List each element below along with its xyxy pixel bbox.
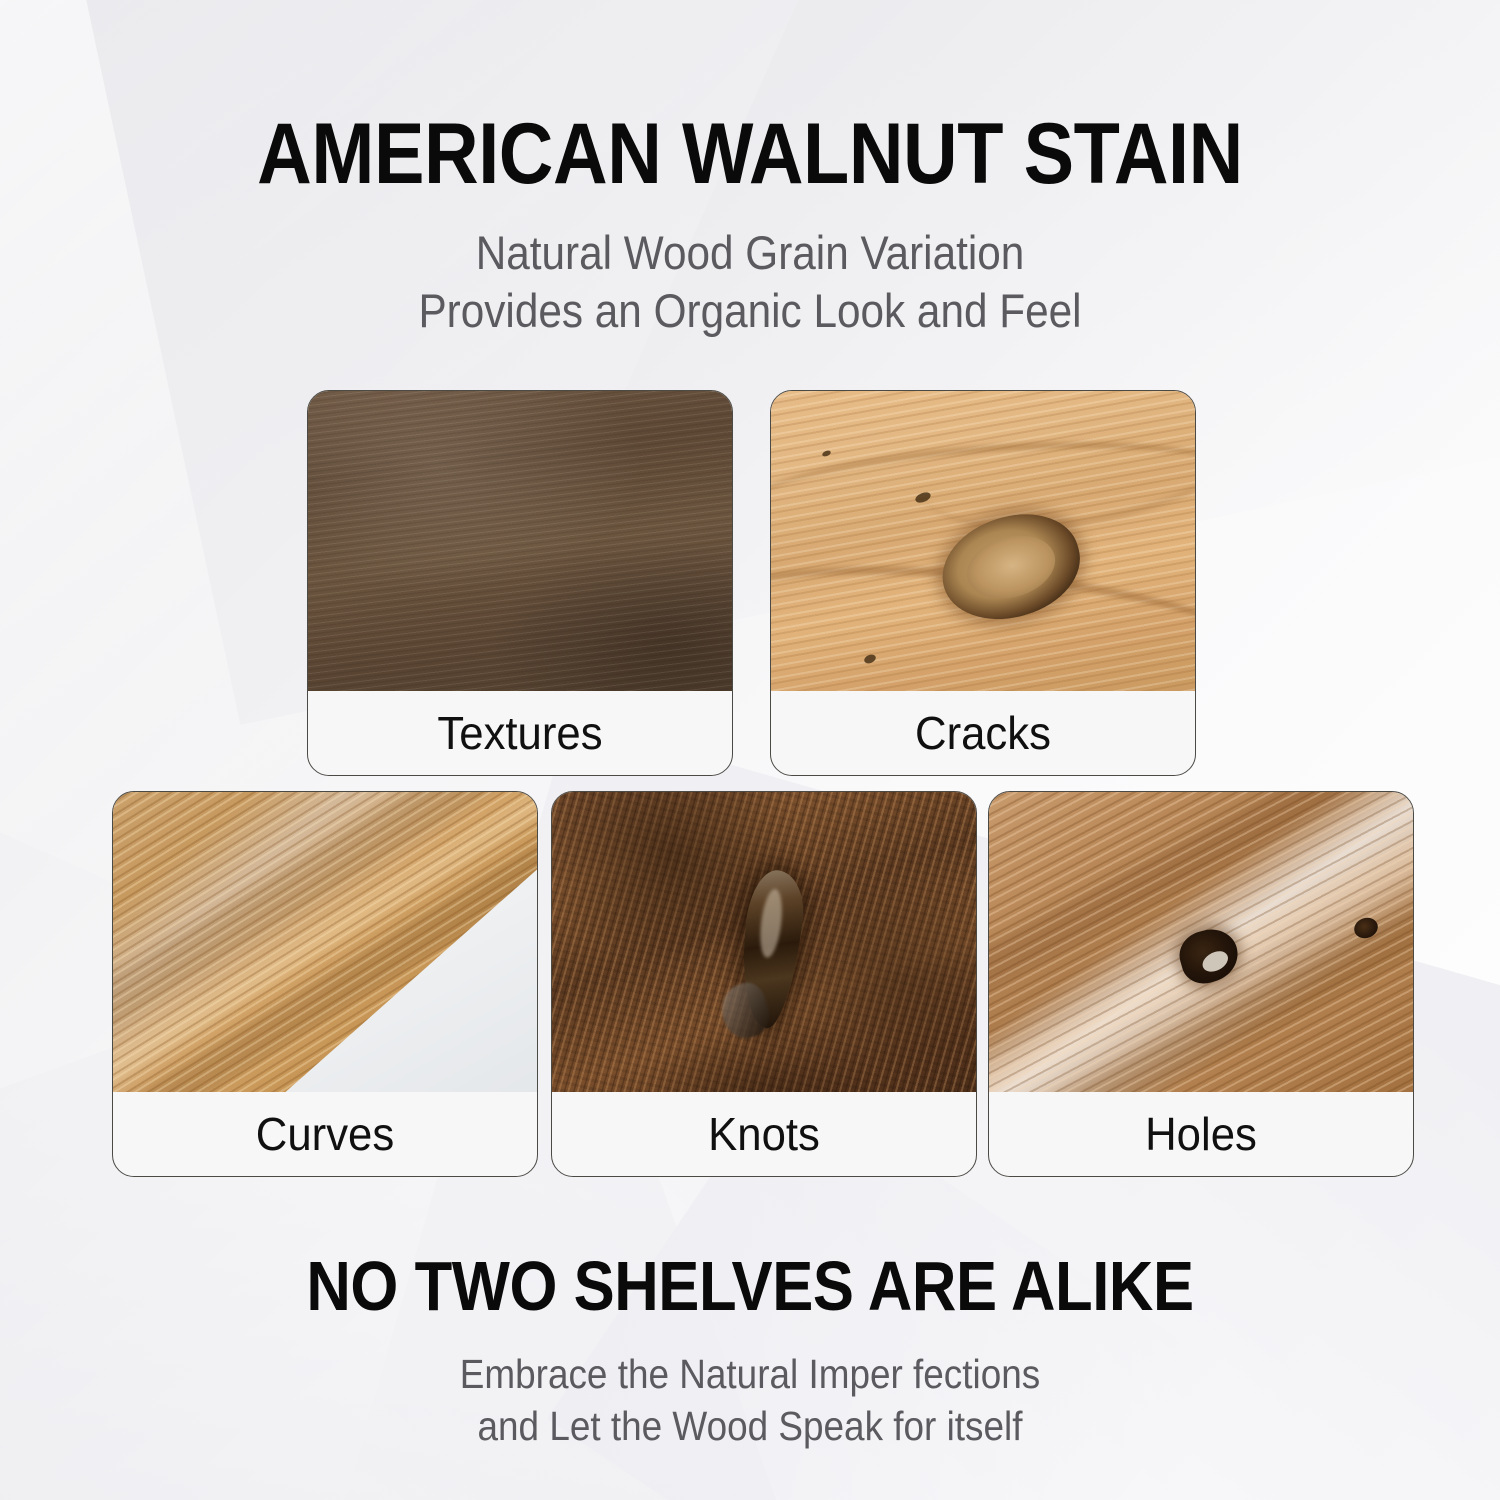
wood-photo-curves (113, 792, 537, 1092)
feature-card-label-curves: Curves (124, 1092, 527, 1176)
wood-photo-holes (989, 792, 1413, 1092)
feature-card-holes[interactable]: Holes (988, 791, 1414, 1177)
feature-card-textures[interactable]: Textures (307, 390, 733, 776)
wood-photo-knots (552, 792, 976, 1092)
main-subtitle-line-1: Natural Wood Grain Variation (75, 224, 1425, 282)
footer-subtitle-line-2: and Let the Wood Speak for itself (75, 1400, 1425, 1452)
product-infographic-poster: AMERICAN WALNUT STAIN Natural Wood Grain… (0, 0, 1500, 1500)
main-subtitle-line-2: Provides an Organic Look and Feel (75, 282, 1425, 340)
footer-title: NO TWO SHELVES ARE ALIKE (90, 1248, 1410, 1324)
feature-card-label-cracks: Cracks (782, 691, 1185, 775)
main-title: AMERICAN WALNUT STAIN (90, 108, 1410, 200)
feature-card-label-holes: Holes (1000, 1092, 1403, 1176)
footer-subtitle: Embrace the Natural Imper fections and L… (75, 1348, 1425, 1452)
feature-card-label-knots: Knots (563, 1092, 966, 1176)
feature-card-label-textures: Textures (319, 691, 722, 775)
feature-card-knots[interactable]: Knots (551, 791, 977, 1177)
feature-card-cracks[interactable]: Cracks (770, 390, 1196, 776)
feature-card-curves[interactable]: Curves (112, 791, 538, 1177)
wood-photo-cracks (771, 391, 1195, 691)
wood-photo-textures (308, 391, 732, 691)
footer-subtitle-line-1: Embrace the Natural Imper fections (75, 1348, 1425, 1400)
main-subtitle: Natural Wood Grain Variation Provides an… (75, 224, 1425, 340)
